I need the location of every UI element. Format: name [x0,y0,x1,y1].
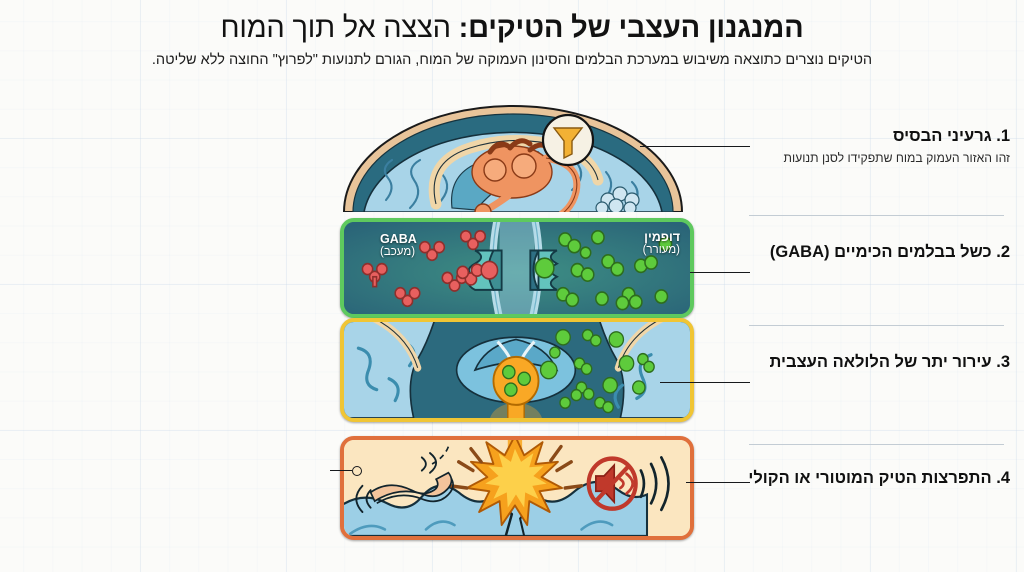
gaba-label-title: GABA [380,232,417,246]
legend-item-1-title: 1. גרעיני הבסיס [725,126,1010,147]
panel-tic-eruption[interactable] [340,436,694,540]
legend-divider-3 [749,444,1004,445]
eruption-illustration [344,440,690,536]
connector-line-4-left [330,470,352,471]
dopamine-label: דופמין (מעורר) [643,230,680,258]
legend-divider-1 [749,215,1004,216]
legend-item-1[interactable]: 1. גרעיני הבסיס זהו האזור העמוק במוח שתפ… [725,126,1010,168]
legend-item-2-number: 2. [996,243,1010,261]
panel-gaba-failure[interactable]: GABA (מעכב) דופמין (מעורר) [340,218,694,318]
dopamine-label-title: דופמין [644,230,680,244]
legend-divider-2 [749,325,1004,326]
funnel-icon [543,115,593,165]
legend-item-2-title: 2. כשל בבלמים הכימיים (GABA) [725,242,1010,263]
legend-item-3[interactable]: 3. עירור יתר של הלולאה העצבית [725,352,1010,376]
legend-item-4-number: 4. [996,469,1010,487]
legend-item-4-text: התפרצות הטיק המוטורי או הקולי [748,469,991,487]
diagram-figure: GABA (מעכב) דופמין (מעורר) [332,104,694,556]
legend-item-3-number: 3. [996,353,1010,371]
header: המנגנון העצבי של הטיקים: הצצה אל תוך המו… [0,0,1024,96]
legend-item-3-title: 3. עירור יתר של הלולאה העצבית [725,352,1010,373]
legend-item-1-desc: זהו האזור העמוק במוח שתפקידו לסנן תנועות [725,150,1010,168]
connector-dot-4-left [352,466,362,476]
legend-item-4-title: 4. התפרצות הטיק המוטורי או הקולי [725,468,1010,489]
gaba-label-sub: (מעכב) [380,246,417,259]
connector-line-1 [640,146,750,147]
dopamine-label-sub: (מעורר) [643,244,680,257]
legend-item-1-text: גרעיני הבסיס [893,127,992,145]
legend-item-1-number: 1. [996,127,1010,145]
panel-loop-overexcitation[interactable] [340,318,694,422]
page-title-light: הצצה אל תוך המוח [220,12,450,44]
legend-item-2-text: כשל בבלמים הכימיים (GABA) [770,243,992,261]
connector-line-4 [686,482,750,483]
gaba-label: GABA (מעכב) [380,232,417,260]
legend-item-4[interactable]: 4. התפרצות הטיק המוטורי או הקולי [725,468,1010,492]
connector-line-3 [660,382,750,383]
brain-illustration [340,104,686,212]
legend-item-2[interactable]: 2. כשל בבלמים הכימיים (GABA) [725,242,1010,266]
page-title: המנגנון העצבי של הטיקים: הצצה אל תוך המו… [0,0,1024,46]
connector-line-2 [690,272,750,273]
panel-basal-ganglia[interactable] [340,104,686,212]
glowing-node [489,357,542,418]
loop-illustration [344,322,690,418]
legend-item-3-text: עירור יתר של הלולאה העצבית [770,353,992,371]
page-title-strong: המנגנון העצבי של הטיקים: [459,12,804,44]
page-subtitle: הטיקים נוצרים כתוצאה משיבוש במערכת הבלמי… [0,52,1024,68]
